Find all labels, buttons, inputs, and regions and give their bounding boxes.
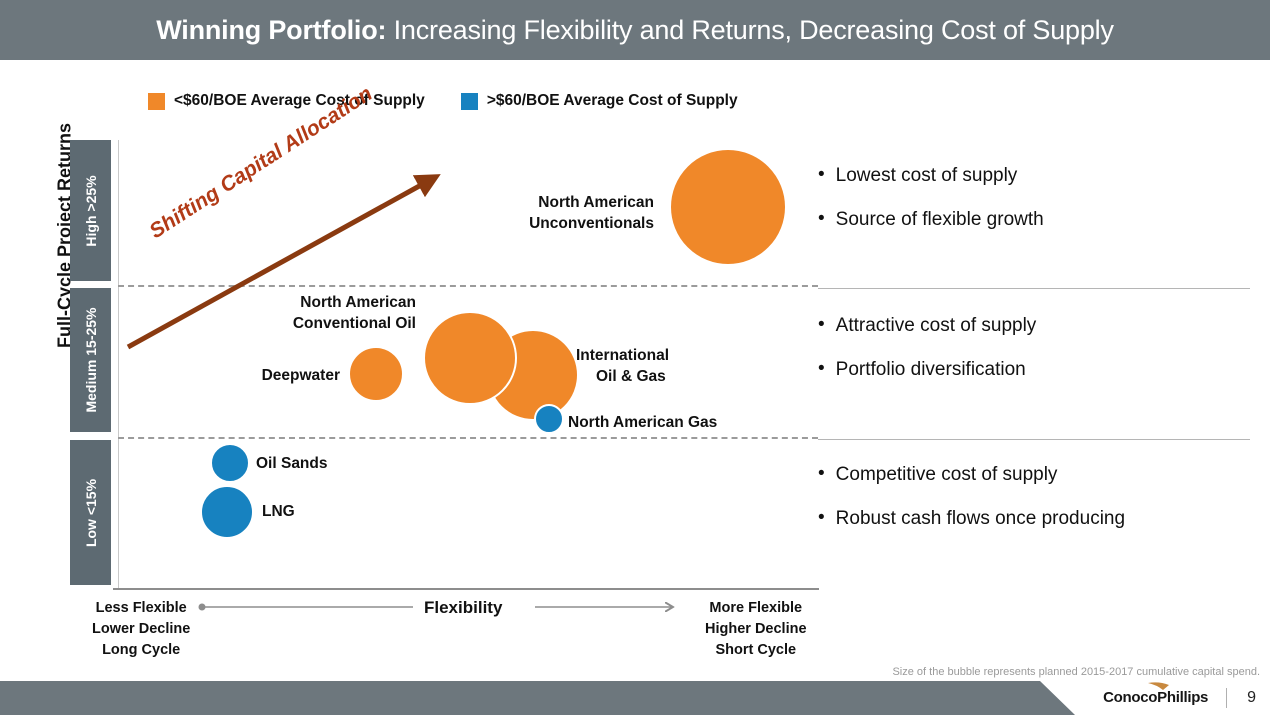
x-axis-line: [113, 588, 819, 590]
x-axis-left-labels: Less Flexible Lower Decline Long Cycle: [92, 598, 190, 661]
footnote: Size of the bubble represents planned 20…: [892, 666, 1260, 678]
bubble-label-line: North American: [208, 293, 416, 314]
x-axis-left-line: Less Flexible: [92, 598, 190, 619]
footer-bar: ConocoPhillips 9: [0, 681, 1270, 715]
footer-shape: [0, 681, 1075, 715]
bubble-label-line: Unconventionals: [449, 214, 654, 235]
y-axis-line: [118, 140, 119, 588]
conocophillips-logo: ConocoPhillips: [1103, 689, 1208, 707]
x-axis-label: Flexibility: [424, 598, 502, 618]
bubble-label-international-oil-gas: International Oil & Gas: [576, 346, 756, 388]
bubble-label-na-conventional-oil: North American Conventional Oil: [208, 293, 416, 335]
y-band-medium: Medium 15-25%: [70, 288, 111, 432]
y-band-low-label: Low <15%: [83, 478, 99, 546]
bubble-label-line: North American: [449, 193, 654, 214]
bullet-group-high: • Lowest cost of supply • Source of flex…: [818, 165, 1268, 253]
x-axis-right-labels: More Flexible Higher Decline Short Cycle: [705, 598, 807, 661]
x-axis-right-line: Short Cycle: [705, 640, 807, 661]
footer-right: ConocoPhillips 9: [1103, 681, 1270, 715]
bullet-dot-icon: •: [818, 464, 825, 485]
bullet-item: • Lowest cost of supply: [818, 165, 1268, 187]
bubble-oil-sands[interactable]: [210, 443, 250, 483]
bubble-label-line: International: [576, 346, 756, 367]
bullet-group-low: • Competitive cost of supply • Robust ca…: [818, 464, 1268, 552]
x-axis-left-line: Lower Decline: [92, 619, 190, 640]
bullet-dot-icon: •: [818, 359, 825, 380]
bullet-divider-medium-low: [818, 439, 1250, 440]
bubble-label-na-gas: North American Gas: [568, 413, 717, 434]
bubble-label-line: North American Gas: [568, 413, 717, 434]
bullet-item: • Source of flexible growth: [818, 209, 1268, 231]
logo-swoosh-icon: [1148, 682, 1170, 691]
bullet-text: Competitive cost of supply: [836, 464, 1058, 486]
bullet-dot-icon: •: [818, 508, 825, 529]
bubble-lng[interactable]: [200, 485, 254, 539]
bubble-label-line: Conventional Oil: [208, 314, 416, 335]
bullet-item: • Attractive cost of supply: [818, 315, 1268, 337]
bullet-text: Attractive cost of supply: [836, 315, 1037, 337]
chart-divider-medium-low: [118, 437, 818, 439]
bullet-dot-icon: •: [818, 209, 825, 230]
bubble-deepwater[interactable]: [348, 346, 404, 402]
bullet-text: Portfolio diversification: [836, 359, 1026, 381]
x-axis-right-line: Higher Decline: [705, 619, 807, 640]
x-axis-right-line: More Flexible: [705, 598, 807, 619]
y-band-medium-label: Medium 15-25%: [83, 307, 99, 412]
bubble-label-line: Oil Sands: [256, 454, 328, 475]
bubble-label-line: Oil & Gas: [596, 367, 756, 388]
bubble-label-na-unconventionals: North American Unconventionals: [449, 193, 654, 235]
footer-separator: [1226, 688, 1227, 708]
y-band-high-label: High >25%: [83, 175, 99, 246]
bullet-dot-icon: •: [818, 165, 825, 186]
bullet-group-medium: • Attractive cost of supply • Portfolio …: [818, 315, 1268, 403]
bubble-na-gas[interactable]: [534, 404, 564, 434]
bullet-text: Source of flexible growth: [836, 209, 1044, 231]
bubble-na-unconventionals[interactable]: [669, 148, 787, 266]
x-axis-left-line: Long Cycle: [92, 640, 190, 661]
bullet-text: Lowest cost of supply: [836, 165, 1018, 187]
bullet-text: Robust cash flows once producing: [836, 508, 1125, 530]
bubble-label-deepwater: Deepwater: [180, 366, 340, 387]
page-number: 9: [1247, 689, 1256, 707]
logo-text: ConocoPhillips: [1103, 689, 1208, 706]
bubble-label-line: LNG: [262, 502, 295, 523]
bullet-dot-icon: •: [818, 315, 825, 336]
bullet-item: • Portfolio diversification: [818, 359, 1268, 381]
bubble-na-conventional-oil[interactable]: [423, 311, 517, 405]
bullet-divider-high-medium: [818, 288, 1250, 289]
bubble-label-oil-sands: Oil Sands: [256, 454, 328, 475]
y-band-high: High >25%: [70, 140, 111, 281]
bullet-item: • Competitive cost of supply: [818, 464, 1268, 486]
bubble-label-lng: LNG: [262, 502, 295, 523]
bullet-item: • Robust cash flows once producing: [818, 508, 1268, 530]
y-band-low: Low <15%: [70, 440, 111, 585]
bubble-label-line: Deepwater: [180, 366, 340, 387]
